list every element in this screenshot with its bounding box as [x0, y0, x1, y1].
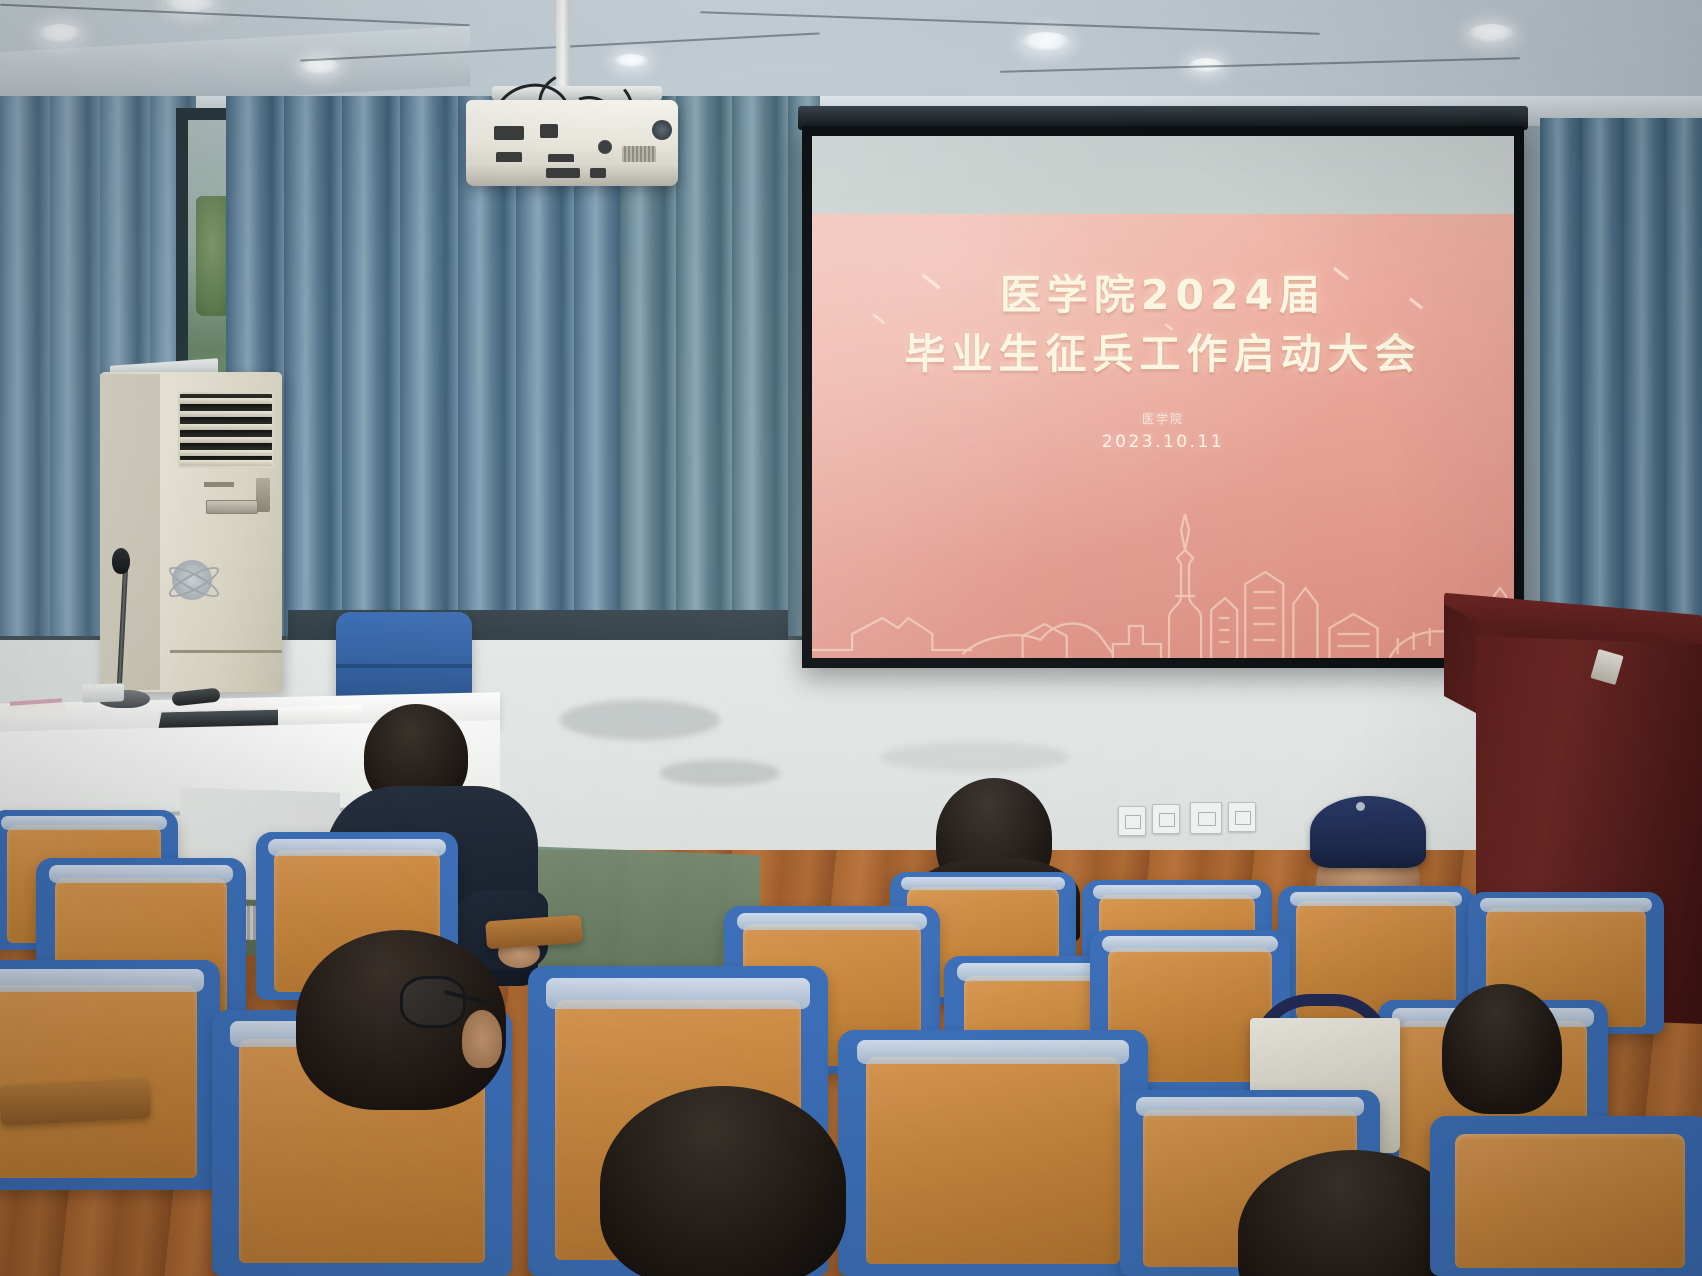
ceiling-downlight [38, 24, 82, 44]
projector-port-usb [540, 124, 558, 138]
air-conditioner-control-panel[interactable] [206, 500, 258, 514]
slide-date: 2023.10.11 [812, 432, 1514, 452]
stage-chair[interactable] [336, 612, 472, 706]
skyline-graphic [812, 468, 1514, 658]
wall-scuff [560, 700, 720, 740]
power-outlet[interactable] [1228, 802, 1256, 832]
projector-port-hdmi [494, 126, 524, 140]
desk-papers-right [278, 705, 362, 726]
projector-port-row [546, 168, 580, 178]
attendee-glasses-ear [462, 1010, 502, 1068]
air-conditioner-panel-seam [170, 650, 282, 653]
auditorium-seat[interactable] [838, 1030, 1148, 1276]
attendee-far-right-head [1442, 984, 1562, 1114]
wall-scuff [880, 742, 1070, 772]
window-curtain-far-right [1540, 118, 1702, 638]
projector-port-row [590, 168, 606, 178]
air-conditioner-side-vent [256, 478, 270, 512]
power-outlet[interactable] [1118, 806, 1146, 836]
air-conditioner-side-panel [100, 374, 160, 690]
air-conditioner-brand-logo [172, 560, 212, 600]
projection-screen: 医学院2024届 毕业生征兵工作启动大会 医学院 2023.10.11 [802, 126, 1524, 668]
air-conditioner-brand-text [204, 482, 234, 487]
slide-title: 医学院2024届 毕业生征兵工作启动大会 [812, 266, 1514, 385]
ceiling-downlight [1022, 32, 1070, 52]
slide-title-line1: 医学院2024届 [812, 266, 1514, 325]
attendee-foreground-head [600, 1086, 846, 1276]
ceiling-downlight [614, 54, 648, 68]
auditorium-seat[interactable] [1430, 1116, 1702, 1276]
wall-scuff [660, 760, 780, 786]
screen-surface: 医学院2024届 毕业生征兵工作启动大会 医学院 2023.10.11 [812, 136, 1514, 658]
auditorium-seat[interactable] [0, 960, 220, 1190]
projector-power-button[interactable] [598, 140, 612, 154]
desk-telephone[interactable] [82, 683, 124, 702]
slide-organization: 医学院 [812, 410, 1514, 427]
projector-front-face [466, 162, 678, 186]
auditorium-seat-armrest [0, 1078, 151, 1126]
power-outlet[interactable] [1152, 804, 1180, 834]
presentation-slide: 医学院2024届 毕业生征兵工作启动大会 医学院 2023.10.11 [812, 214, 1514, 658]
slide-title-line2: 毕业生征兵工作启动大会 [812, 325, 1514, 384]
projector-lens [652, 120, 672, 140]
ceiling-downlight [1468, 24, 1514, 43]
stage-chair-seam [336, 664, 472, 668]
cap-button-icon [1356, 802, 1365, 811]
photo-scene: 医学院2024届 毕业生征兵工作启动大会 医学院 2023.10.11 [0, 0, 1702, 1276]
eyeglasses [400, 976, 466, 1028]
microphone-head [112, 548, 130, 574]
air-conditioner-vent-grille [178, 392, 274, 468]
baseball-cap [1310, 796, 1426, 868]
screen-blank-band [812, 136, 1514, 214]
power-outlet[interactable] [1190, 802, 1222, 834]
